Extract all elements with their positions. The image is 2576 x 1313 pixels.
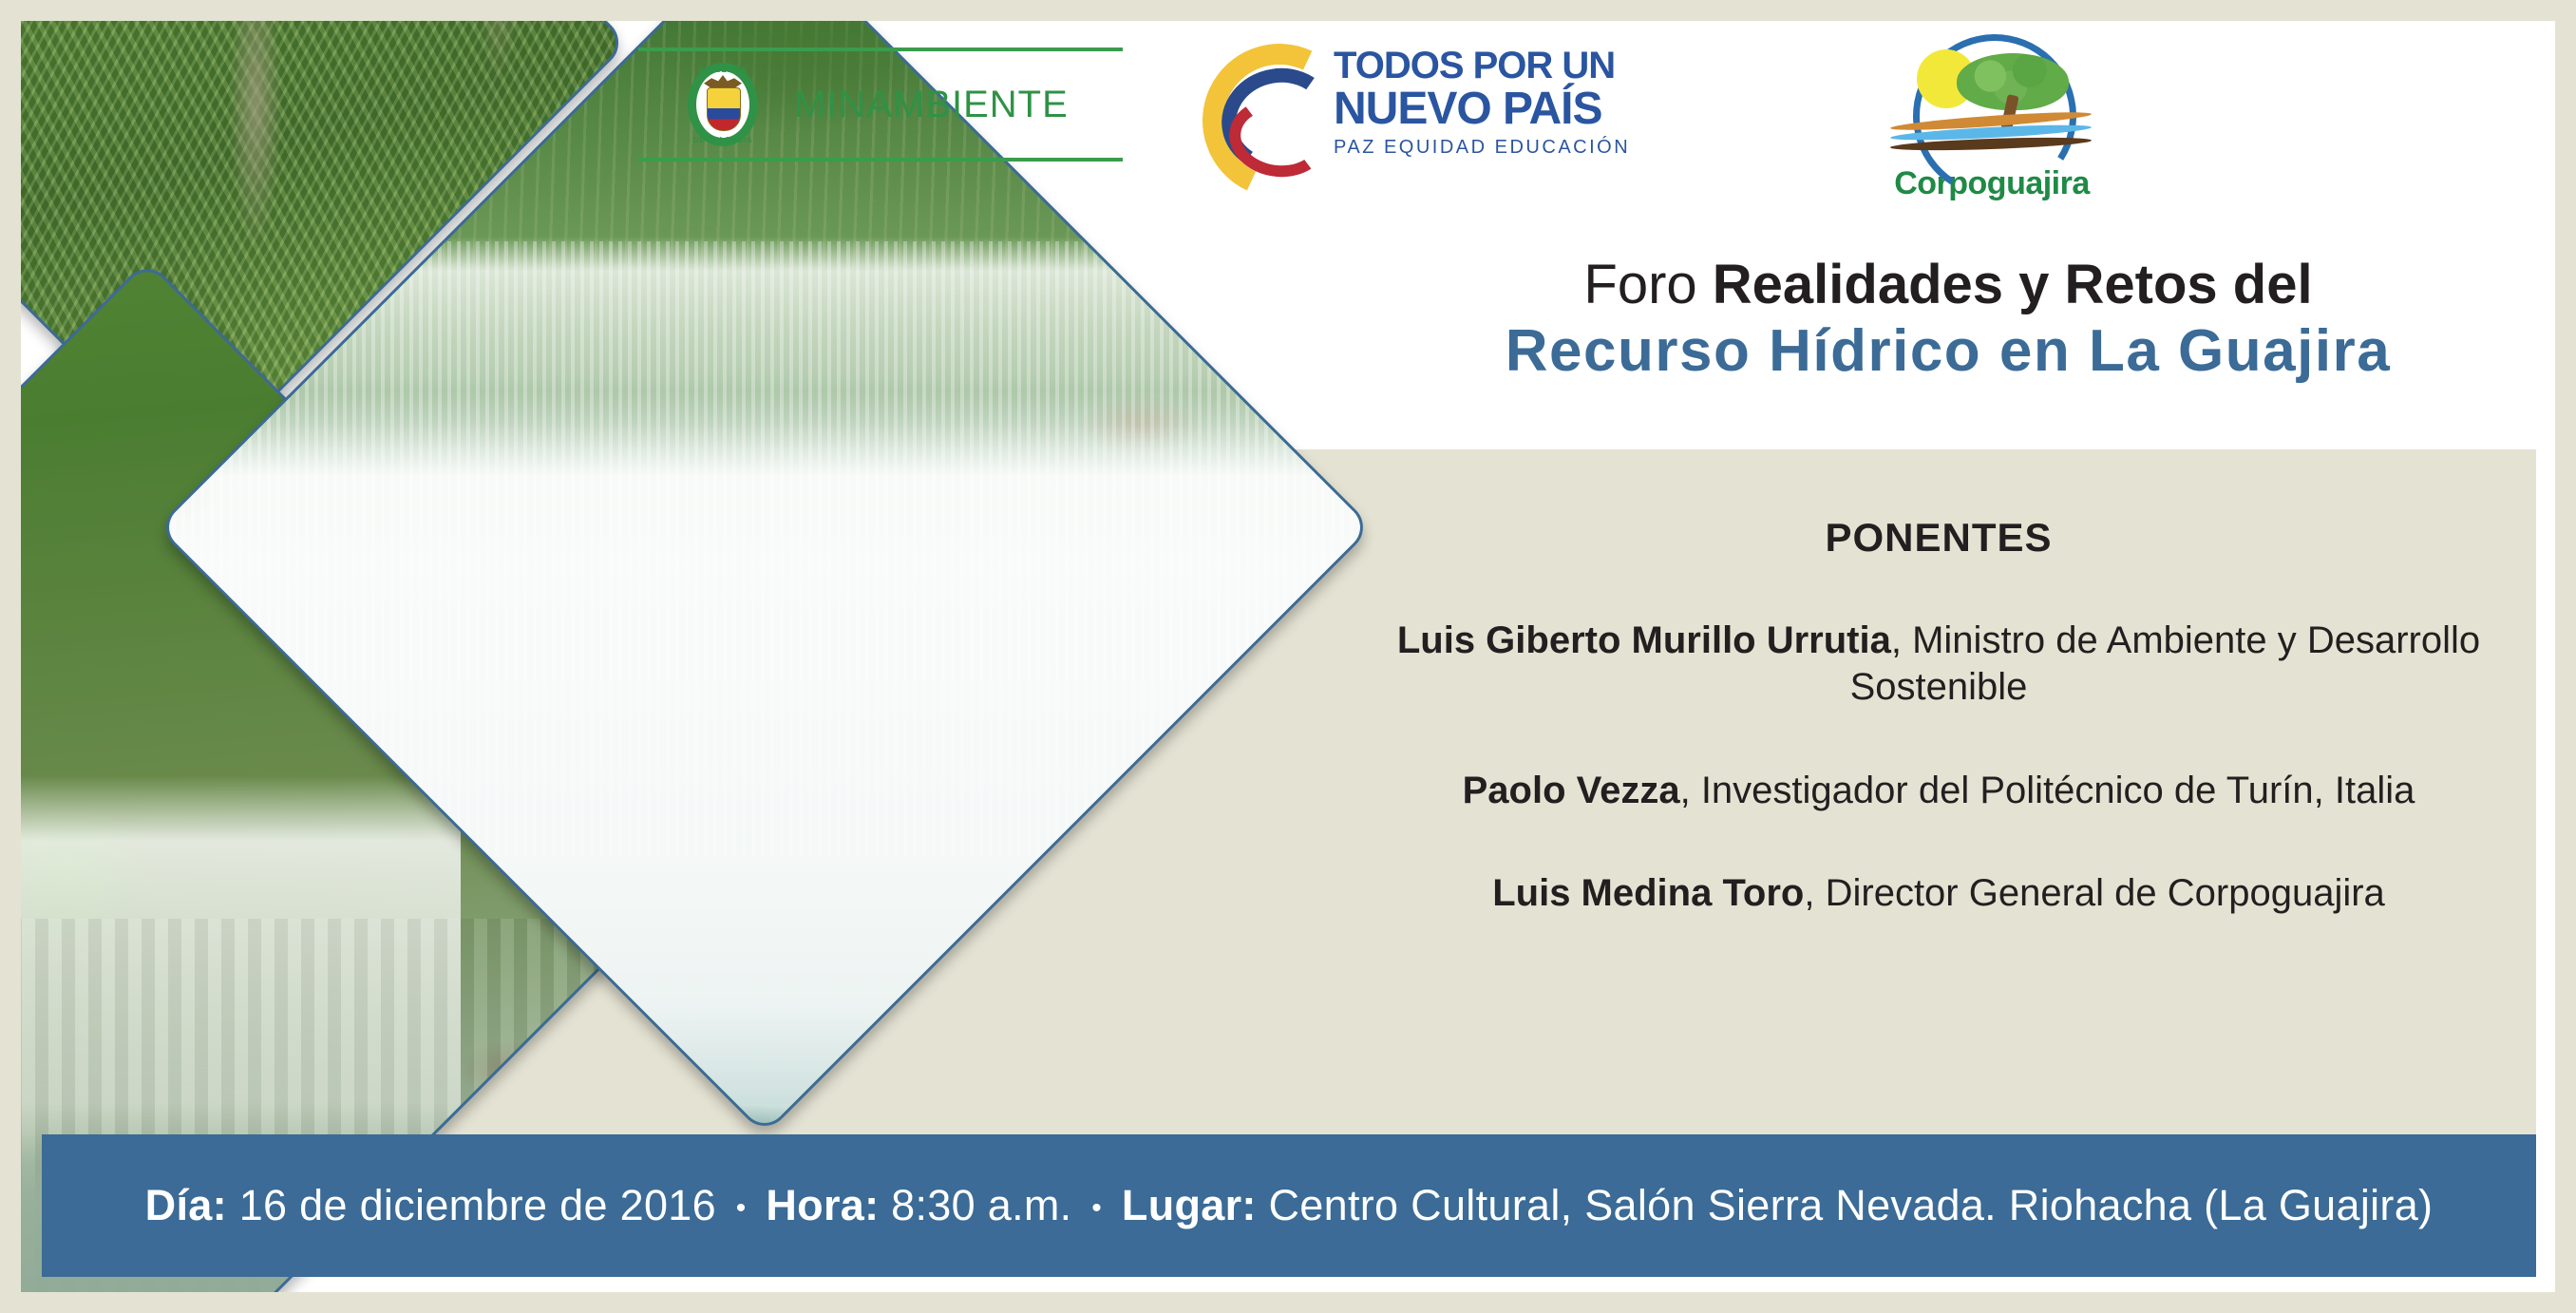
right-white-gutter <box>2536 449 2555 1134</box>
event-details-text: Día: 16 de diciembre de 2016 • Hora: 8:3… <box>145 1181 2434 1230</box>
colombia-flag-ribbon-icon <box>1199 40 1324 163</box>
coat-of-arms-top-text: REPÚBLICA <box>688 66 758 74</box>
event-title: Foro Realidades y Retos del Recurso Hídr… <box>1341 257 2555 382</box>
minambiente-rule-bottom <box>638 158 1123 162</box>
colombia-coat-of-arms-icon: REPÚBLICA DE COLOMBIA <box>688 63 758 146</box>
speaker-entry: Paolo Vezza, Investigador del Politécnic… <box>1341 768 2536 814</box>
event-details-bar: Día: 16 de diciembre de 2016 • Hora: 8:3… <box>42 1134 2536 1277</box>
separator-bullet-icon: • <box>1084 1192 1109 1224</box>
sun-tree-waves-icon <box>1883 29 2101 162</box>
title-line-1-light: Foro <box>1583 254 1712 315</box>
coat-of-arms-bottom-text: DE COLOMBIA <box>688 136 758 144</box>
todos-line2: NUEVO PAÍS <box>1334 86 1630 132</box>
speaker-role: , Investigador del Politécnico de Turín,… <box>1680 770 2415 811</box>
separator-bullet-icon: • <box>729 1192 754 1224</box>
corpoguajira-logo: Corpoguajira <box>1859 29 2125 219</box>
speakers-section: PONENTES Luis Giberto Murillo Urrutia, M… <box>1341 515 2536 917</box>
speaker-entry: Luis Medina Toro, Director General de Co… <box>1341 870 2536 917</box>
speakers-heading: PONENTES <box>1341 515 2536 561</box>
speaker-name: Paolo Vezza <box>1463 770 1680 811</box>
speaker-entry: Luis Giberto Murillo Urrutia, Ministro d… <box>1341 618 2536 711</box>
title-line-2: Recurso Hídrico en La Guajira <box>1341 320 2555 382</box>
speaker-name: Luis Medina Toro <box>1492 872 1804 914</box>
lugar-value: Centro Cultural, Salón Sierra Nevada. Ri… <box>1257 1181 2434 1229</box>
dia-value: 16 de diciembre de 2016 <box>227 1181 729 1229</box>
lugar-label: Lugar: <box>1109 1181 1257 1229</box>
poster-canvas: REPÚBLICA DE COLOMBIA MINAMBIENTE TODOS … <box>21 21 2555 1292</box>
todos-por-un-nuevo-pais-logo: TODOS POR UN NUEVO PAÍS PAZ EQUIDAD EDUC… <box>1199 30 1807 173</box>
minambiente-logo: REPÚBLICA DE COLOMBIA MINAMBIENTE <box>638 48 1123 162</box>
title-line-1: Foro Realidades y Retos del <box>1341 257 2555 314</box>
minambiente-wordmark: MINAMBIENTE <box>794 84 1069 126</box>
hora-value: 8:30 a.m. <box>879 1181 1084 1229</box>
hora-label: Hora: <box>754 1181 880 1229</box>
speaker-name: Luis Giberto Murillo Urrutia <box>1397 619 1891 661</box>
speaker-role: , Director General de Corpoguajira <box>1804 872 2384 914</box>
title-line-1-bold: Realidades y Retos del <box>1713 254 2313 315</box>
dia-label: Día: <box>145 1181 227 1229</box>
logo-row: REPÚBLICA DE COLOMBIA MINAMBIENTE TODOS … <box>638 29 2529 228</box>
todos-line3: PAZ EQUIDAD EDUCACIÓN <box>1334 138 1630 157</box>
todos-line1: TODOS POR UN <box>1334 47 1630 85</box>
speaker-role: , Ministro de Ambiente y Desarrollo Sost… <box>1850 619 2481 708</box>
